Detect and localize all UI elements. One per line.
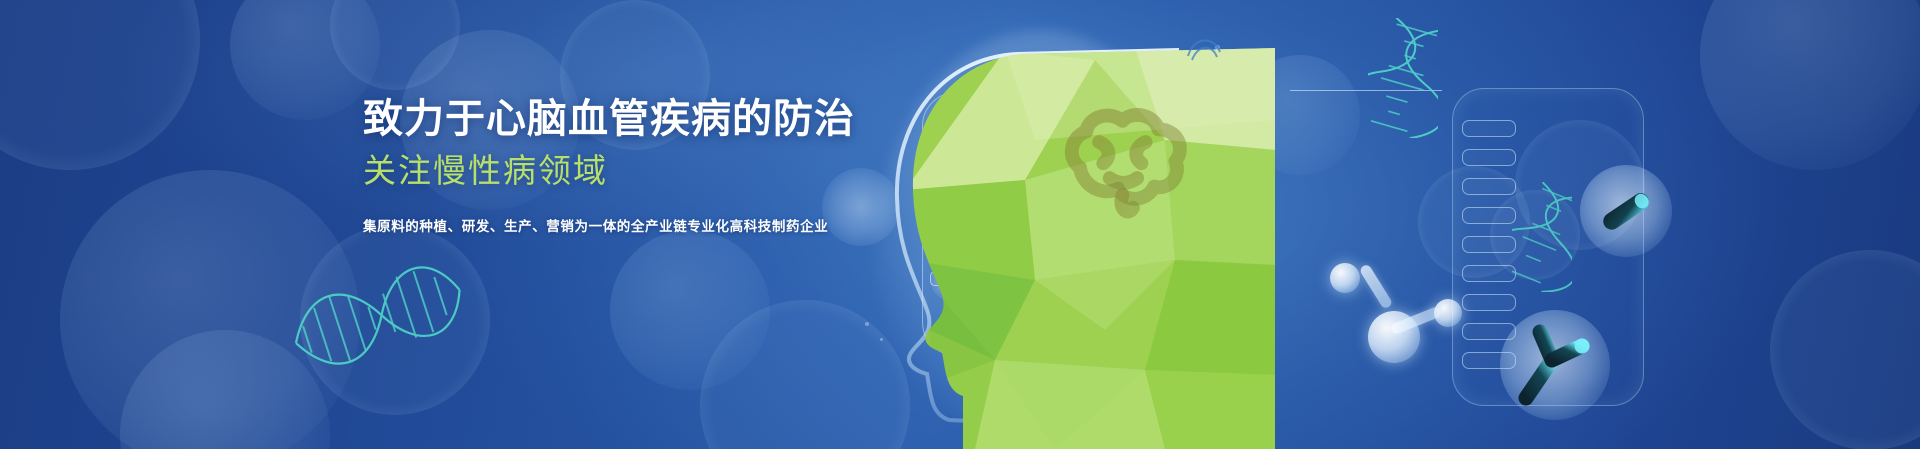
molecule-atom <box>1330 263 1360 293</box>
bacteria-fork-cell <box>1500 310 1610 420</box>
bacteria-rod-cell <box>1580 165 1672 257</box>
head-polygon-fill <box>845 30 1275 449</box>
pill-item <box>1462 207 1516 224</box>
bacteria-rod-icon <box>1580 165 1672 257</box>
pill-item <box>1462 178 1516 195</box>
pill-item <box>1462 265 1516 282</box>
molecule-atom <box>1434 299 1462 327</box>
pill-item <box>1462 149 1516 166</box>
low-poly-head-figure <box>845 30 1275 449</box>
frame-top-line <box>1290 90 1442 91</box>
molecule-atom <box>1368 311 1420 363</box>
bacteria-fork-icon <box>1500 310 1610 420</box>
hero-banner: 致力于心脑血管疾病的防治 关注慢性病领域 集原料的种植、研发、生产、营销为一体的… <box>0 0 1920 449</box>
pill-item <box>1462 294 1516 311</box>
banner-subline: 关注慢性病领域 <box>363 152 1063 191</box>
pill-item <box>1462 236 1516 253</box>
banner-text-block: 致力于心脑血管疾病的防治 关注慢性病领域 集原料的种植、研发、生产、营销为一体的… <box>363 96 1063 235</box>
pill-item <box>1462 120 1516 137</box>
banner-tagline: 集原料的种植、研发、生产、营销为一体的全产业链专业化高科技制药企业 <box>363 215 1063 235</box>
banner-headline: 致力于心脑血管疾病的防治 <box>363 96 1063 142</box>
